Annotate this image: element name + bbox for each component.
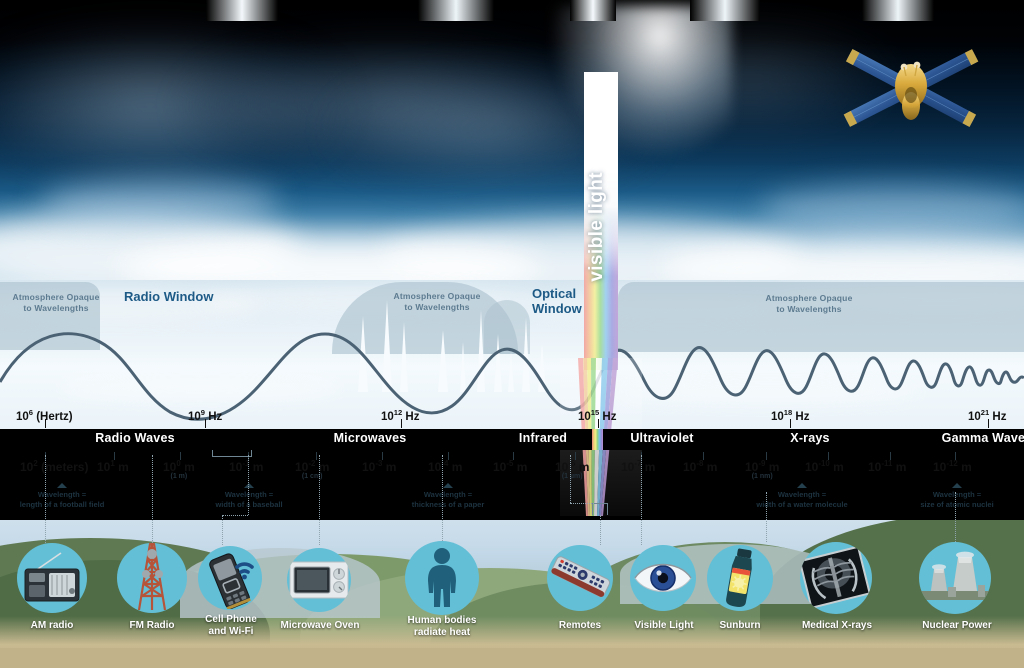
icon-visible-light[interactable] [630,545,696,611]
freq-tick-1e12 [401,419,402,428]
wl-label-1e-3: 10-3 m [362,459,396,474]
visible-light-label: visible light [586,172,608,282]
visible-light-sliver [592,429,603,450]
annotation-water-molecule: Wavelength = width of a water molecule [740,483,864,509]
icon-nuclear-power[interactable] [919,542,991,614]
wl-label-1e-9: 10-9 m(1 nm) [745,459,779,480]
bar-fade-radio-microwave [206,0,278,21]
wl-label-1e1: 101 m [97,459,129,474]
freq-tick-1e6 [45,419,46,428]
connector-medical-xrays [766,492,767,542]
opaque-label-right: Atmosphere Opaque to Wavelengths [758,293,860,315]
visible-sub-bracket [592,503,608,515]
radio-sub-bracket [212,450,252,457]
bar-fade-uv-xray [690,0,760,21]
connector-sunburn [641,455,642,545]
icon-microwave-oven[interactable] [287,548,351,612]
connector-remotes [570,455,571,503]
icon-medical-x-rays[interactable] [800,542,872,614]
wl-label-1e-2: 10-2 m(1 cm) [295,459,329,480]
caption-remotes: Remotes [538,620,622,632]
optical-window-label: Optical Window [532,286,582,316]
freq-tick-1e18 [790,419,791,428]
satellite-icon [836,28,986,148]
icon-am-radio[interactable] [17,543,87,613]
wl-label-1e-1: 10-1 m [229,459,263,474]
caption-sunburn: Sunburn [700,620,780,632]
connector-remotes-jog [570,503,594,504]
connector-human-body [442,455,443,541]
caption-medical-x-rays: Medical X-rays [785,620,889,632]
opaque-label-microwave: Atmosphere Opaque to Wavelengths [386,291,488,313]
band-infrared[interactable]: Infrared [493,431,593,448]
radio-window-label: Radio Window [124,289,213,304]
sun-glow [552,6,732,156]
band-x-rays[interactable]: X-rays [755,431,865,448]
connector-microwave-oven [319,455,320,545]
caption-am-radio: AM radio [2,620,102,632]
caption-human-body-heat: Human bodies radiate heat [390,615,494,639]
bar-fade-infrared-uv [570,0,616,21]
caption-cell-phone-wifi: Cell Phone and Wi-Fi [186,614,276,638]
caption-microwave-oven: Microwave Oven [265,620,375,632]
band-microwaves[interactable]: Microwaves [310,431,430,448]
annotation-baseball: Wavelength = width of a baseball [196,483,302,509]
wave-curve [0,320,1024,430]
connector-am-radio [45,455,46,543]
wl-label-1e2: 102 (meters) [20,459,88,474]
icon-sunburn[interactable] [707,545,773,611]
connector-cell-phone-jog [222,515,248,516]
annotation-football-field: Wavelength = length of a football field [6,483,118,509]
wl-label-1e-8: 10-8 m [683,459,717,474]
caption-visible-light: Visible Light [618,620,710,632]
connector-cell-phone [248,455,249,515]
wl-label-1e-10: 10-10 m [805,459,844,474]
opaque-label-left: Atmosphere Opaque to Wavelengths [8,292,104,314]
connector-nuclear-power [955,492,956,542]
wl-label-1e-12: 10-12 m [933,459,972,474]
freq-tick-1e15 [598,419,599,428]
bar-fade-xray-gamma [862,0,934,21]
bar-fade-microwave-infrared [418,0,494,21]
band-radio-waves[interactable]: Radio Waves [70,431,200,448]
wl-label-1e-11: 10-11 m [868,459,906,474]
icon-remotes[interactable] [547,545,613,611]
annotation-paper-thickness: Wavelength = thickness of a paper [398,483,498,509]
band-ultraviolet[interactable]: Ultraviolet [607,431,717,448]
freq-tick-1e9 [205,419,206,428]
connector-cell-phone-drop [222,515,223,545]
icon-fm-radio[interactable] [117,543,187,613]
wl-label-1e-4: 10-4 m [428,459,462,474]
wl-label-1e-5: 10-5 m [493,459,527,474]
connector-fm-radio [152,455,153,543]
electromagnetic-spectrum-diagram: visible light Atmosphere Opaque to Wavel… [0,0,1024,668]
icon-human-body-heat[interactable] [405,541,479,615]
freq-tick-1e21 [988,419,989,428]
annotation-atomic-nuclei: Wavelength = size of atomic nuclei [900,483,1014,509]
connector-visible-light [600,515,601,545]
wl-label-1e-7: 10-7 m [621,459,655,474]
wl-label-1e0: 100 m(1 m) [163,459,195,480]
band-gamma-waves[interactable]: Gamma Waves [912,431,1024,448]
wl-label-1e-6: 10-6 m(1 µm) [555,459,589,480]
icon-cell-phone-wifi[interactable] [198,546,262,610]
caption-nuclear-power: Nuclear Power [905,620,1009,632]
